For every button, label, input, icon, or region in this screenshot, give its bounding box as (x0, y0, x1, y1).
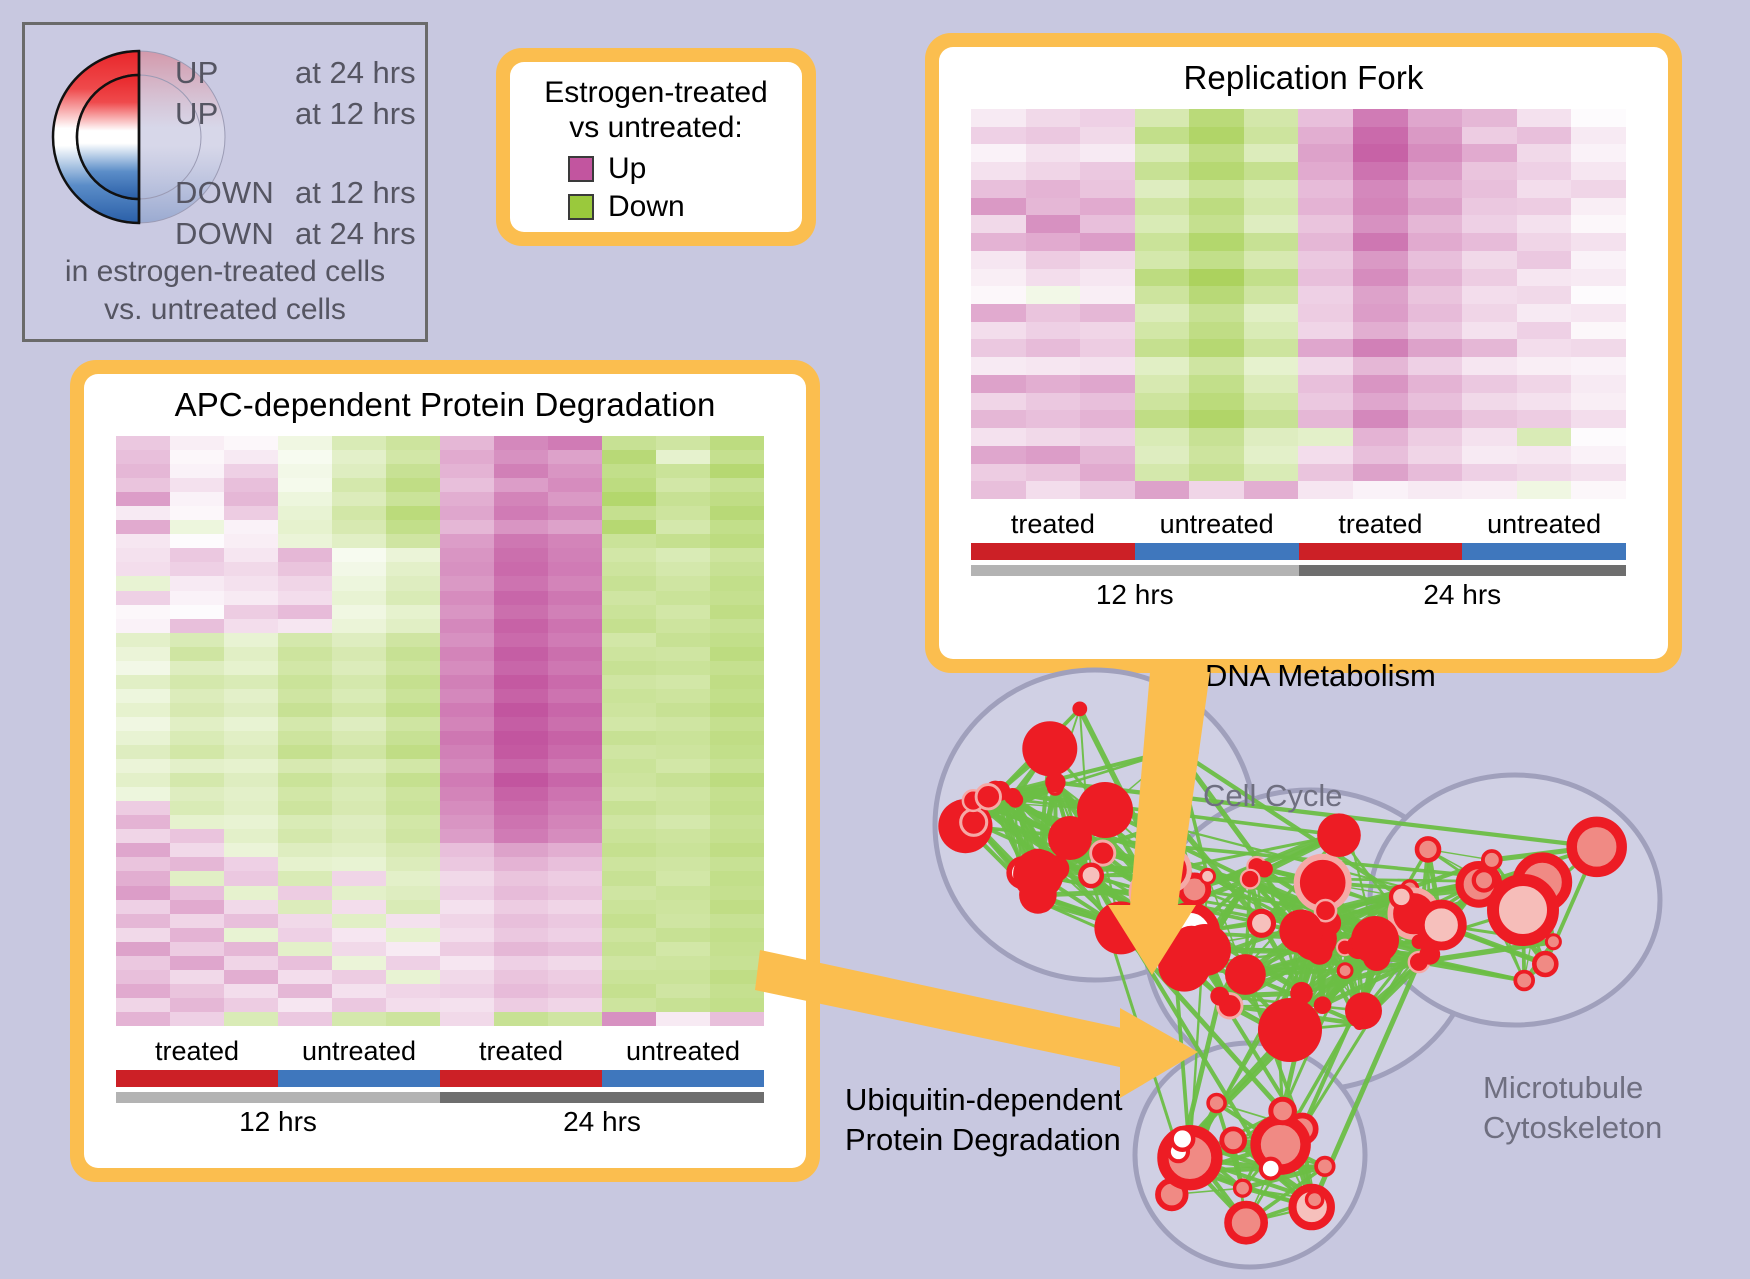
heatmap-cell (278, 857, 332, 871)
legend-footer-line1: in estrogen-treated cells (25, 253, 425, 291)
heatmap-cell (224, 942, 278, 956)
heatmap-cell (224, 605, 278, 619)
heatmap-cell (602, 548, 656, 562)
heatmap-cell (494, 562, 548, 576)
heatmap-cell (116, 900, 170, 914)
heatmap-cell (1135, 339, 1190, 357)
heatmap-cell (656, 506, 710, 520)
heatmap-cell (656, 801, 710, 815)
heatmap-cell (440, 914, 494, 928)
heatmap-cell (548, 956, 602, 970)
network-node[interactable] (1235, 1180, 1251, 1196)
network-node[interactable] (1314, 996, 1332, 1014)
treatment-bar-segment (602, 1070, 764, 1087)
heatmap-cell (224, 647, 278, 661)
heatmap-cell (170, 829, 224, 843)
heatmap-cell (548, 534, 602, 548)
network-node[interactable] (1210, 987, 1229, 1006)
heatmap-cell (548, 998, 602, 1012)
heatmap-cell (602, 928, 656, 942)
heatmap-cell (494, 591, 548, 605)
heatmap-cell (1298, 446, 1353, 464)
legend-row: UP at 12 hrs (175, 96, 416, 137)
heatmap-cell (386, 857, 440, 871)
figure-canvas: UP at 24 hrs UP at 12 hrs DOWN at 12 hrs… (0, 0, 1750, 1279)
network-node[interactable] (1154, 727, 1199, 772)
network-node[interactable] (1179, 924, 1231, 976)
heatmap-cell (971, 251, 1026, 269)
heatmap-cell (548, 619, 602, 633)
heatmap-cell (224, 450, 278, 464)
network-node[interactable] (1417, 838, 1439, 860)
heatmap-cell (1189, 464, 1244, 482)
heatmap-cell (1080, 269, 1135, 287)
network-node[interactable] (1228, 1205, 1264, 1241)
heatmap-cell (332, 647, 386, 661)
heatmap-cell (1408, 269, 1463, 287)
network-node[interactable] (1353, 1018, 1365, 1030)
heatmap-cell (116, 703, 170, 717)
heatmap-cell (548, 562, 602, 576)
heatmap-cell (224, 633, 278, 647)
heatmap-cell (278, 745, 332, 759)
heatmap-cell (1026, 375, 1081, 393)
heatmap-cell (548, 900, 602, 914)
heatmap-cell (278, 506, 332, 520)
heatmap-cell (1026, 322, 1081, 340)
heatmap-cell (440, 801, 494, 815)
heatmap-cell (1135, 393, 1190, 411)
heatmap-cell (1189, 410, 1244, 428)
heatmap-cell (1244, 481, 1299, 499)
heatmap-cell (971, 464, 1026, 482)
heatmap-cell (1462, 357, 1517, 375)
heatmap-cell (656, 857, 710, 871)
heatmap-cell (170, 731, 224, 745)
heatmap-cell (1353, 304, 1408, 322)
key-item-up: Up (568, 150, 786, 188)
heatmap-cell (386, 703, 440, 717)
heatmap-cell (278, 914, 332, 928)
heatmap-cell (494, 759, 548, 773)
heatmap-cell (278, 970, 332, 984)
heatmap-cell (710, 773, 764, 787)
heatmap-cell (1298, 198, 1353, 216)
heatmap-cell (1080, 251, 1135, 269)
network-node[interactable] (1225, 954, 1266, 995)
network-node[interactable] (1022, 721, 1077, 776)
network-node[interactable] (1241, 870, 1260, 889)
heatmap-cell (1353, 322, 1408, 340)
heatmap-cell (224, 787, 278, 801)
heatmap-cell (1244, 127, 1299, 145)
heatmap-cell (656, 717, 710, 731)
network-node[interactable] (1250, 911, 1274, 935)
heatmap-cell (971, 127, 1026, 145)
heatmap-cell (278, 871, 332, 885)
heatmap-cell (548, 843, 602, 857)
heatmap-cell (170, 647, 224, 661)
heatmap-cell (386, 548, 440, 562)
heatmap-cell (1571, 144, 1626, 162)
heatmap-cell (386, 605, 440, 619)
heatmap-cell (170, 942, 224, 956)
network-node[interactable] (1168, 814, 1182, 828)
heatmap-cell (1408, 215, 1463, 233)
heatmap-cell (116, 956, 170, 970)
network-node[interactable] (1483, 851, 1501, 869)
network-node[interactable] (961, 809, 987, 835)
network-node[interactable] (1172, 1128, 1194, 1150)
heatmap-cell (656, 689, 710, 703)
heatmap-cell (1517, 481, 1572, 499)
heatmap-cell (278, 436, 332, 450)
heatmap-cell (170, 745, 224, 759)
heatmap-cell (710, 492, 764, 506)
network-node[interactable] (1258, 998, 1322, 1062)
heatmap-cell (386, 914, 440, 928)
heatmap-cell (278, 534, 332, 548)
heatmap-cell (971, 428, 1026, 446)
heatmap-cell (1298, 428, 1353, 446)
heatmap-cell (440, 450, 494, 464)
heatmap-cell (971, 198, 1026, 216)
heatmap-cell (710, 661, 764, 675)
heatmap-cell (710, 478, 764, 492)
heatmap-cell (440, 871, 494, 885)
heatmap-cell (224, 703, 278, 717)
heatmap-cell (1408, 375, 1463, 393)
heatmap-cell (494, 675, 548, 689)
heatmap-cell (1571, 375, 1626, 393)
heatmap-cell (1353, 428, 1408, 446)
network-node[interactable] (1391, 887, 1412, 908)
heatmap-cell (1135, 446, 1190, 464)
network-node[interactable] (1222, 1129, 1245, 1152)
heatmap-cell (278, 576, 332, 590)
network-node[interactable] (1019, 876, 1057, 914)
heatmap-cell (656, 970, 710, 984)
heatmap-cell (170, 562, 224, 576)
column-label: treated (1299, 509, 1463, 540)
timepoint-label: 24 hrs (1299, 579, 1627, 611)
heatmap-cell (548, 436, 602, 450)
heatmap-cell (1080, 464, 1135, 482)
heatmap-cell (1298, 251, 1353, 269)
heatmap-cell (224, 773, 278, 787)
heatmap-cell (332, 689, 386, 703)
heatmap-cell (1189, 233, 1244, 251)
heatmap-cell (1298, 322, 1353, 340)
heatmap-cell (710, 843, 764, 857)
heatmap-cell (1517, 144, 1572, 162)
heatmap-cell (548, 801, 602, 815)
heatmap-cell (1353, 251, 1408, 269)
network-node[interactable] (1072, 702, 1087, 717)
timepoint-bar-segment (1299, 565, 1627, 576)
heatmap-cell (386, 478, 440, 492)
heatmap-cell (656, 619, 710, 633)
heatmap-cell (386, 984, 440, 998)
heatmap-cell (116, 928, 170, 942)
heatmap-cell (1244, 446, 1299, 464)
heatmap-cell (170, 773, 224, 787)
heatmap-cell (116, 661, 170, 675)
heatmap-cell (116, 464, 170, 478)
heatmap-cell (1298, 233, 1353, 251)
heatmap-cell (1408, 233, 1463, 251)
heatmap-cell (1135, 428, 1190, 446)
heatmap-cell (440, 591, 494, 605)
network-node[interactable] (1493, 880, 1553, 940)
legend-footer-line2: vs. untreated cells (25, 291, 425, 329)
heatmap-cell (224, 506, 278, 520)
network-node[interactable] (1546, 935, 1560, 949)
network-node[interactable] (1091, 841, 1115, 865)
heatmap-cell (710, 717, 764, 731)
heatmap-cell (332, 759, 386, 773)
heatmap-cell (332, 956, 386, 970)
heatmap-cell (170, 759, 224, 773)
network-node[interactable] (1420, 904, 1462, 946)
heatmap-cell (332, 928, 386, 942)
heatmap-cell (656, 886, 710, 900)
heatmap-cell (494, 731, 548, 745)
heatmap-cell (440, 478, 494, 492)
network-node[interactable] (1261, 1159, 1281, 1179)
network-node[interactable] (1131, 870, 1175, 914)
heatmap-cell (332, 450, 386, 464)
heatmap-cell (494, 464, 548, 478)
network-node[interactable] (1316, 1158, 1334, 1176)
treatment-bar-segment (440, 1070, 602, 1087)
network-node[interactable] (1004, 788, 1021, 805)
heatmap-cell (332, 745, 386, 759)
heatmap-cell (1408, 464, 1463, 482)
heatmap-cell (170, 633, 224, 647)
heatmap-cell (1189, 127, 1244, 145)
heatmap-cell (1135, 144, 1190, 162)
network-node[interactable] (1279, 910, 1323, 954)
heatmap-cell (1189, 375, 1244, 393)
heatmap-cell (1026, 127, 1081, 145)
heatmap-cell (1517, 446, 1572, 464)
heatmap-cell (224, 843, 278, 857)
heatmap-cell (116, 998, 170, 1012)
heatmap-cell (1353, 127, 1408, 145)
heatmap-cell (602, 464, 656, 478)
heatmap-cell (1462, 180, 1517, 198)
heatmap-cell (386, 534, 440, 548)
heatmap-cell (971, 410, 1026, 428)
heatmap-cell (548, 717, 602, 731)
heatmap-cell (1517, 464, 1572, 482)
heatmap-cell (1135, 410, 1190, 428)
heatmap-cell (1462, 322, 1517, 340)
heatmap-cell (1135, 357, 1190, 375)
heatmap-cell (710, 689, 764, 703)
heatmap-cell (1353, 375, 1408, 393)
heatmap-cell (602, 633, 656, 647)
heatmap-cell (1135, 109, 1190, 127)
heatmap-cell (224, 548, 278, 562)
heatmap-cell (656, 759, 710, 773)
network-node[interactable] (1474, 870, 1494, 890)
heatmap-cell (1189, 180, 1244, 198)
heatmap-cell (1080, 322, 1135, 340)
heatmap-cell (1353, 410, 1408, 428)
heatmap-cell (224, 562, 278, 576)
heatmap-cell (1408, 109, 1463, 127)
heatmap-cell (1408, 162, 1463, 180)
heatmap-cell (116, 731, 170, 745)
network-node[interactable] (1271, 1099, 1295, 1123)
heatmap-cell (656, 478, 710, 492)
heatmap-cell (548, 661, 602, 675)
heatmap-cell (656, 548, 710, 562)
heatmap-cell (1135, 322, 1190, 340)
heatmap-cell (494, 492, 548, 506)
network-node[interactable] (1307, 1192, 1323, 1208)
heatmap-cell (332, 984, 386, 998)
heatmap-cell (1353, 481, 1408, 499)
heatmap-cell (332, 942, 386, 956)
heatmap-cell (1571, 357, 1626, 375)
heatmap-cell (971, 162, 1026, 180)
timepoint-color-bar (971, 565, 1626, 576)
heatmap-cell (224, 745, 278, 759)
heatmap-cell (1026, 464, 1081, 482)
heatmap-cell (1517, 233, 1572, 251)
heatmap-cell (116, 576, 170, 590)
network-node[interactable] (1080, 865, 1101, 886)
heatmap-cell (548, 886, 602, 900)
network-node[interactable] (1515, 972, 1533, 990)
heatmap-cell (494, 1012, 548, 1026)
network-node[interactable] (976, 785, 1000, 809)
legend-time: at 24 hrs (295, 55, 416, 91)
heatmap-cell (440, 689, 494, 703)
key-label-up: Up (608, 152, 646, 186)
heatmap-cell (494, 773, 548, 787)
heatmap-cell (1189, 286, 1244, 304)
heatmap-cell (710, 787, 764, 801)
legend-direction: UP (175, 96, 295, 132)
heatmap-cell (494, 689, 548, 703)
heatmap-cell (494, 534, 548, 548)
heatmap-cell (1135, 127, 1190, 145)
heatmap-cell (602, 843, 656, 857)
heatmap-cell (170, 520, 224, 534)
heatmap-cell (548, 450, 602, 464)
heatmap-cell (332, 703, 386, 717)
heatmap-cell (116, 801, 170, 815)
heatmap-cell (116, 717, 170, 731)
heatmap-cell (656, 815, 710, 829)
heatmap-cell (278, 633, 332, 647)
heatmap-cell (1080, 339, 1135, 357)
heatmap-cell (710, 871, 764, 885)
heatmap-cell (602, 773, 656, 787)
network-node[interactable] (1317, 813, 1361, 857)
network-node[interactable] (1048, 816, 1092, 860)
heatmap-cell (656, 745, 710, 759)
network-node[interactable] (1572, 822, 1622, 872)
network-node[interactable] (1208, 1095, 1225, 1112)
heatmap-cell (1408, 428, 1463, 446)
heatmap-cell (278, 900, 332, 914)
heatmap-cell (656, 773, 710, 787)
heatmap-cell (1462, 446, 1517, 464)
heatmap-cell (332, 787, 386, 801)
timepoint-bar-segment (116, 1092, 440, 1103)
heatmap-cell (710, 731, 764, 745)
heatmap-cell (1135, 269, 1190, 287)
network-node[interactable] (1534, 953, 1556, 975)
heatmap-cell (116, 450, 170, 464)
heatmap-cell (971, 286, 1026, 304)
heatmap-cell (386, 801, 440, 815)
heatmap-cell (548, 703, 602, 717)
heatmap-cell (1462, 127, 1517, 145)
heatmap-cell (548, 829, 602, 843)
key-heading-line1: Estrogen-treated (526, 76, 786, 111)
heatmap-cell (332, 801, 386, 815)
heatmap-cell (710, 928, 764, 942)
heatmap-cell (494, 703, 548, 717)
heatmap-cell (332, 520, 386, 534)
heatmap-cell (1244, 215, 1299, 233)
heatmap-cell (1298, 339, 1353, 357)
heatmap-cell (1026, 357, 1081, 375)
heatmap-cell (971, 304, 1026, 322)
heatmap-cell (386, 450, 440, 464)
heatmap-cell (548, 942, 602, 956)
heatmap-cell (1353, 286, 1408, 304)
heatmap-cell (1571, 410, 1626, 428)
heatmap-cell (548, 675, 602, 689)
heatmap-cell (1408, 127, 1463, 145)
heatmap-cell (1026, 481, 1081, 499)
timepoint-label: 12 hrs (971, 579, 1299, 611)
heatmap-cell (440, 745, 494, 759)
network-node[interactable] (1351, 916, 1399, 964)
heatmap-cell (224, 717, 278, 731)
heatmap-cell (1571, 481, 1626, 499)
heatmap-cell (116, 857, 170, 871)
heatmap-cell (1244, 286, 1299, 304)
heatmap-cell (710, 506, 764, 520)
network-node[interactable] (1045, 772, 1065, 792)
heatmap-cell (656, 703, 710, 717)
heatmap-cell (1517, 357, 1572, 375)
heatmap-cell (440, 576, 494, 590)
heatmap-cell (170, 492, 224, 506)
heatmap-cell (602, 647, 656, 661)
heatmap-cell (1026, 446, 1081, 464)
heatmap-cell (116, 633, 170, 647)
heatmap-cell (1571, 393, 1626, 411)
heatmap-cell (440, 886, 494, 900)
heatmap-cell (224, 534, 278, 548)
heatmap-cell (1189, 322, 1244, 340)
network-node[interactable] (1201, 869, 1215, 883)
heatmap-cell (440, 647, 494, 661)
heatmap-cell (971, 322, 1026, 340)
network-node[interactable] (1338, 964, 1352, 978)
heatmap-cell (494, 450, 548, 464)
heatmap-cell (278, 520, 332, 534)
